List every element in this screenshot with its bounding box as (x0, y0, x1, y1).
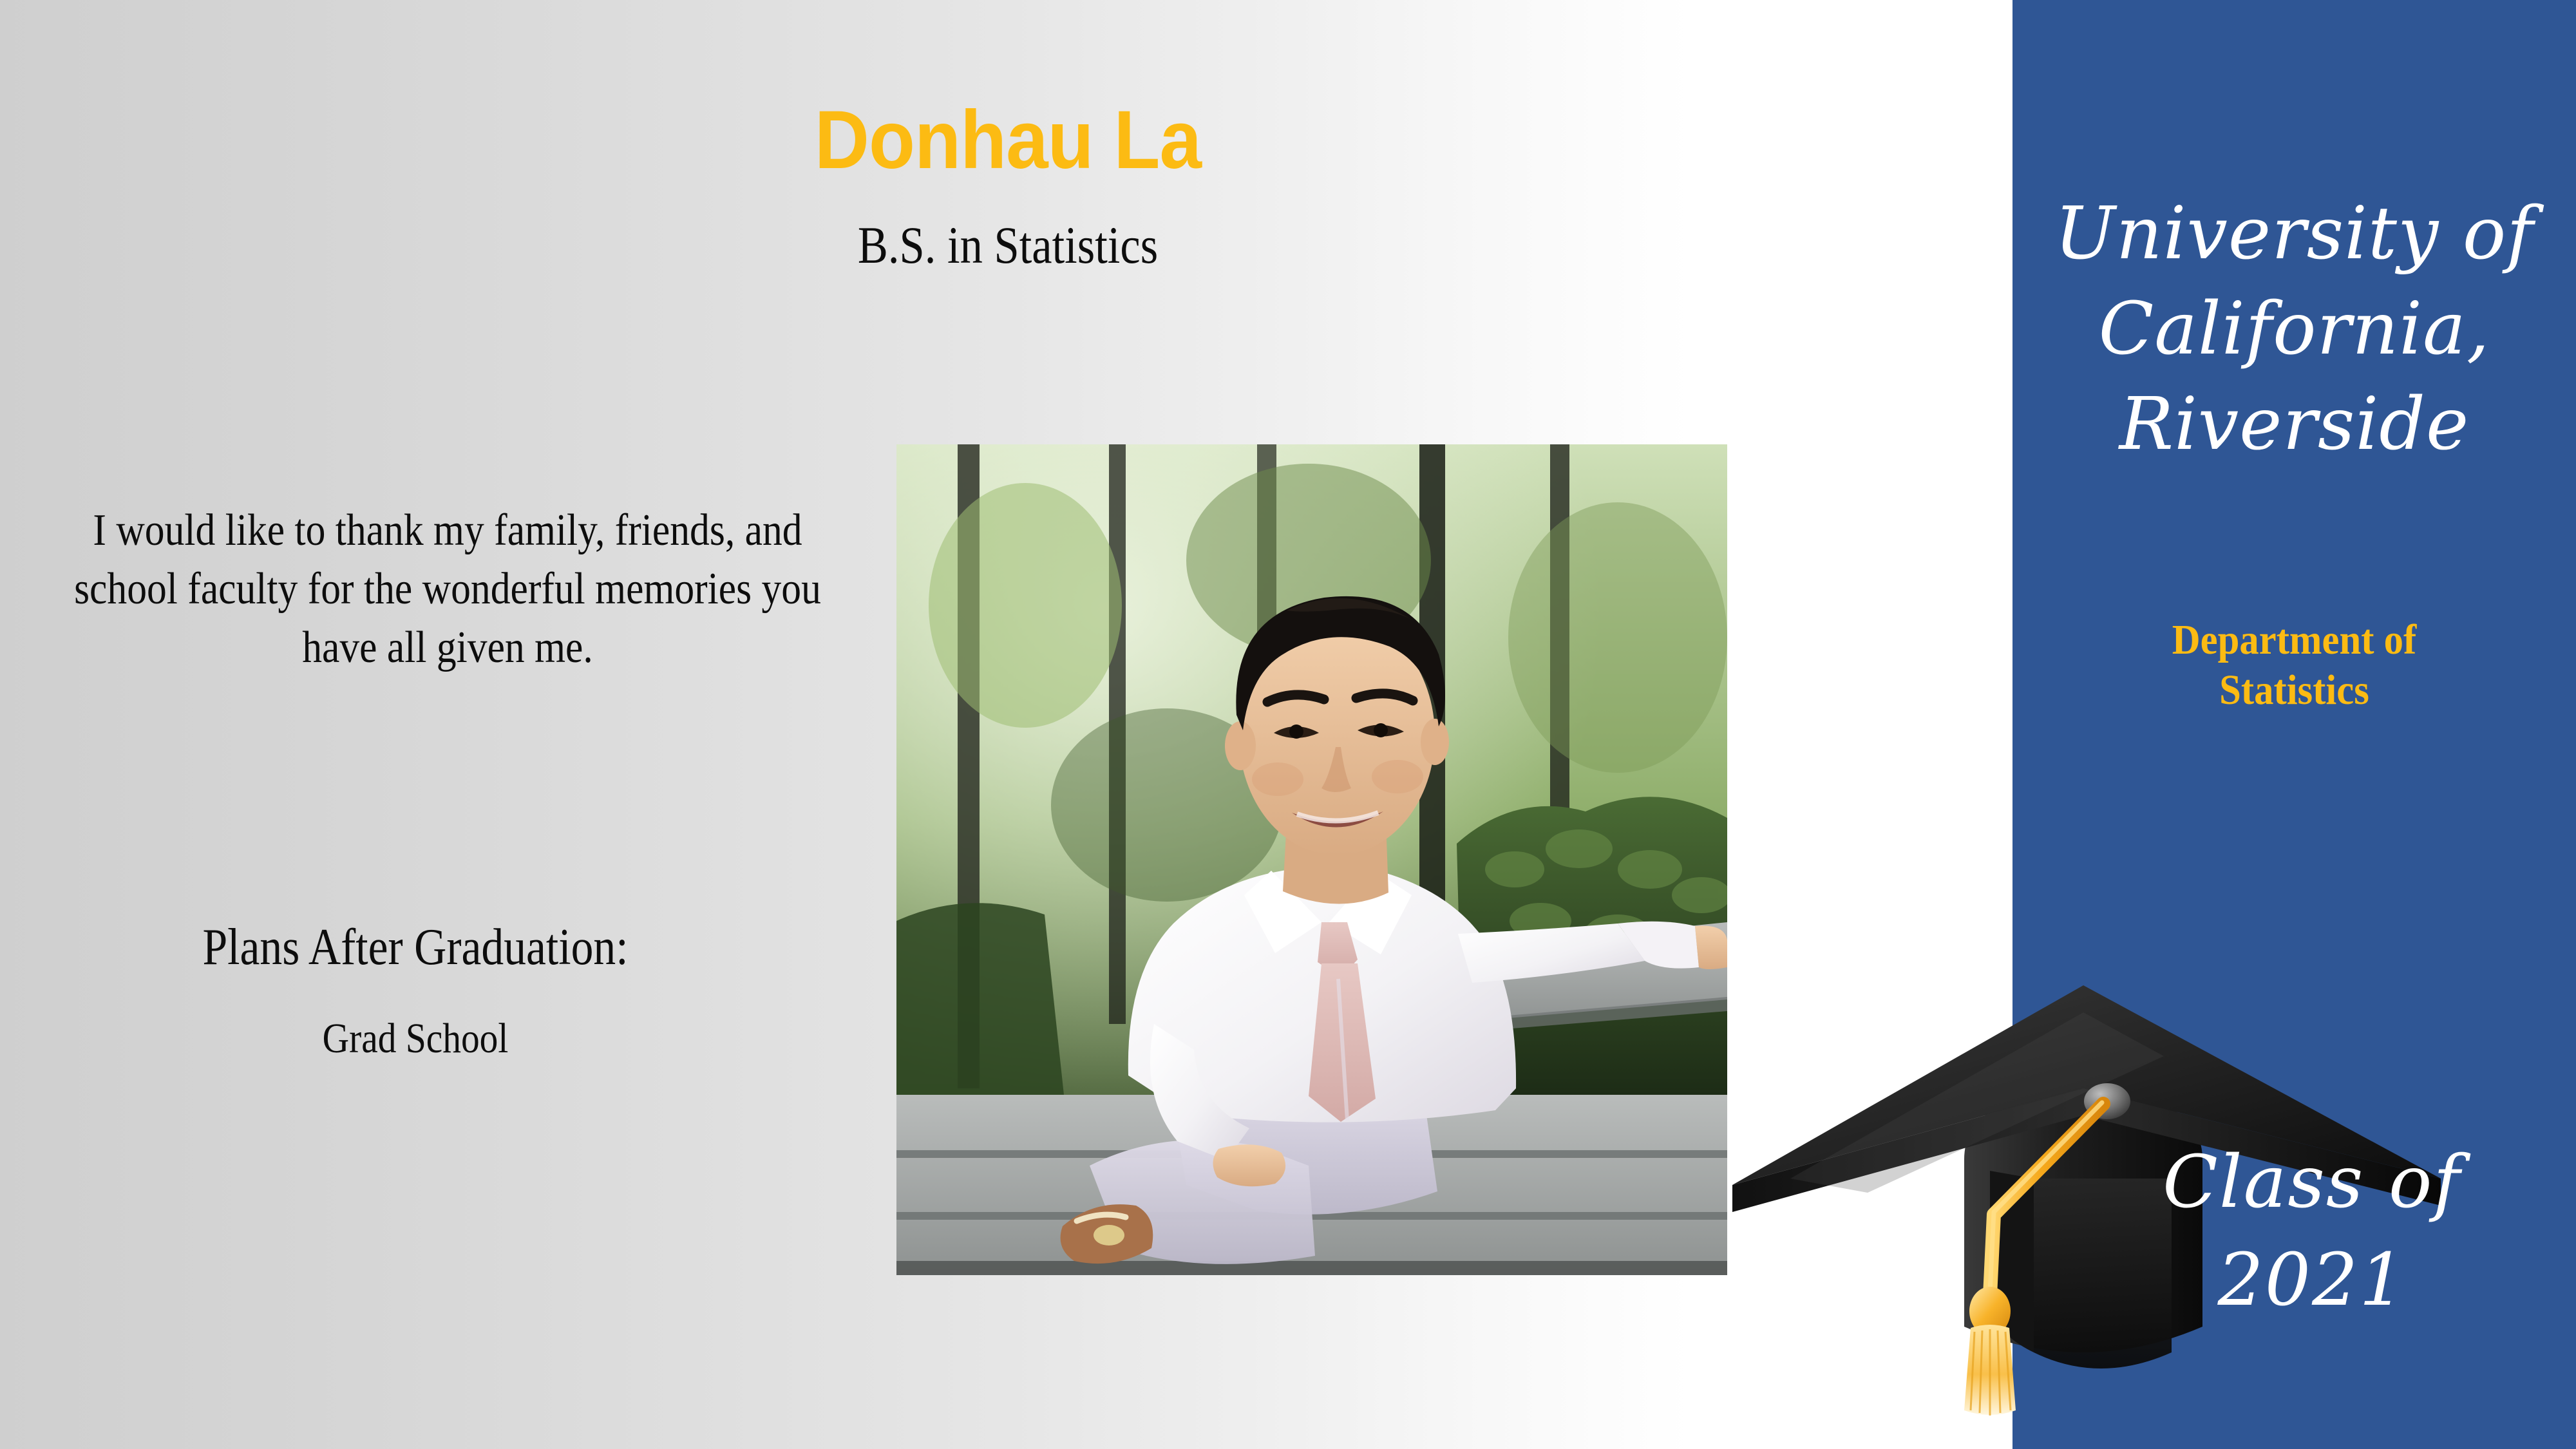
class-of-label: Class of 2021 (2054, 1133, 2570, 1330)
department-line-2: Statistics (2053, 665, 2536, 715)
graduation-slide: Donhau La B.S. in Statistics I would lik… (0, 0, 2576, 1449)
department-line-1: Department of (2053, 615, 2536, 665)
university-line-2: California, (2025, 282, 2563, 377)
thank-you-message: I would like to thank my family, friends… (71, 501, 824, 677)
plans-after-graduation-heading: Plans After Graduation: (71, 918, 760, 977)
university-line-3: Riverside (2025, 377, 2563, 473)
university-line-1: University of (2025, 187, 2563, 282)
portrait-illustration (896, 444, 1727, 1275)
graduate-degree: B.S. in Statistics (451, 216, 1565, 274)
graduate-name: Donhau La (412, 97, 1603, 184)
university-name: University of California, Riverside (2025, 187, 2563, 472)
plans-after-graduation-value: Grad School (71, 1014, 760, 1063)
graduate-portrait-photo (896, 444, 1727, 1275)
class-of-line-1: Class of (2054, 1133, 2570, 1231)
department-name: Department of Statistics (2053, 615, 2536, 715)
thank-you-line-1: I would like to thank my family, friends… (93, 506, 735, 555)
class-of-line-2: 2021 (2054, 1231, 2570, 1329)
